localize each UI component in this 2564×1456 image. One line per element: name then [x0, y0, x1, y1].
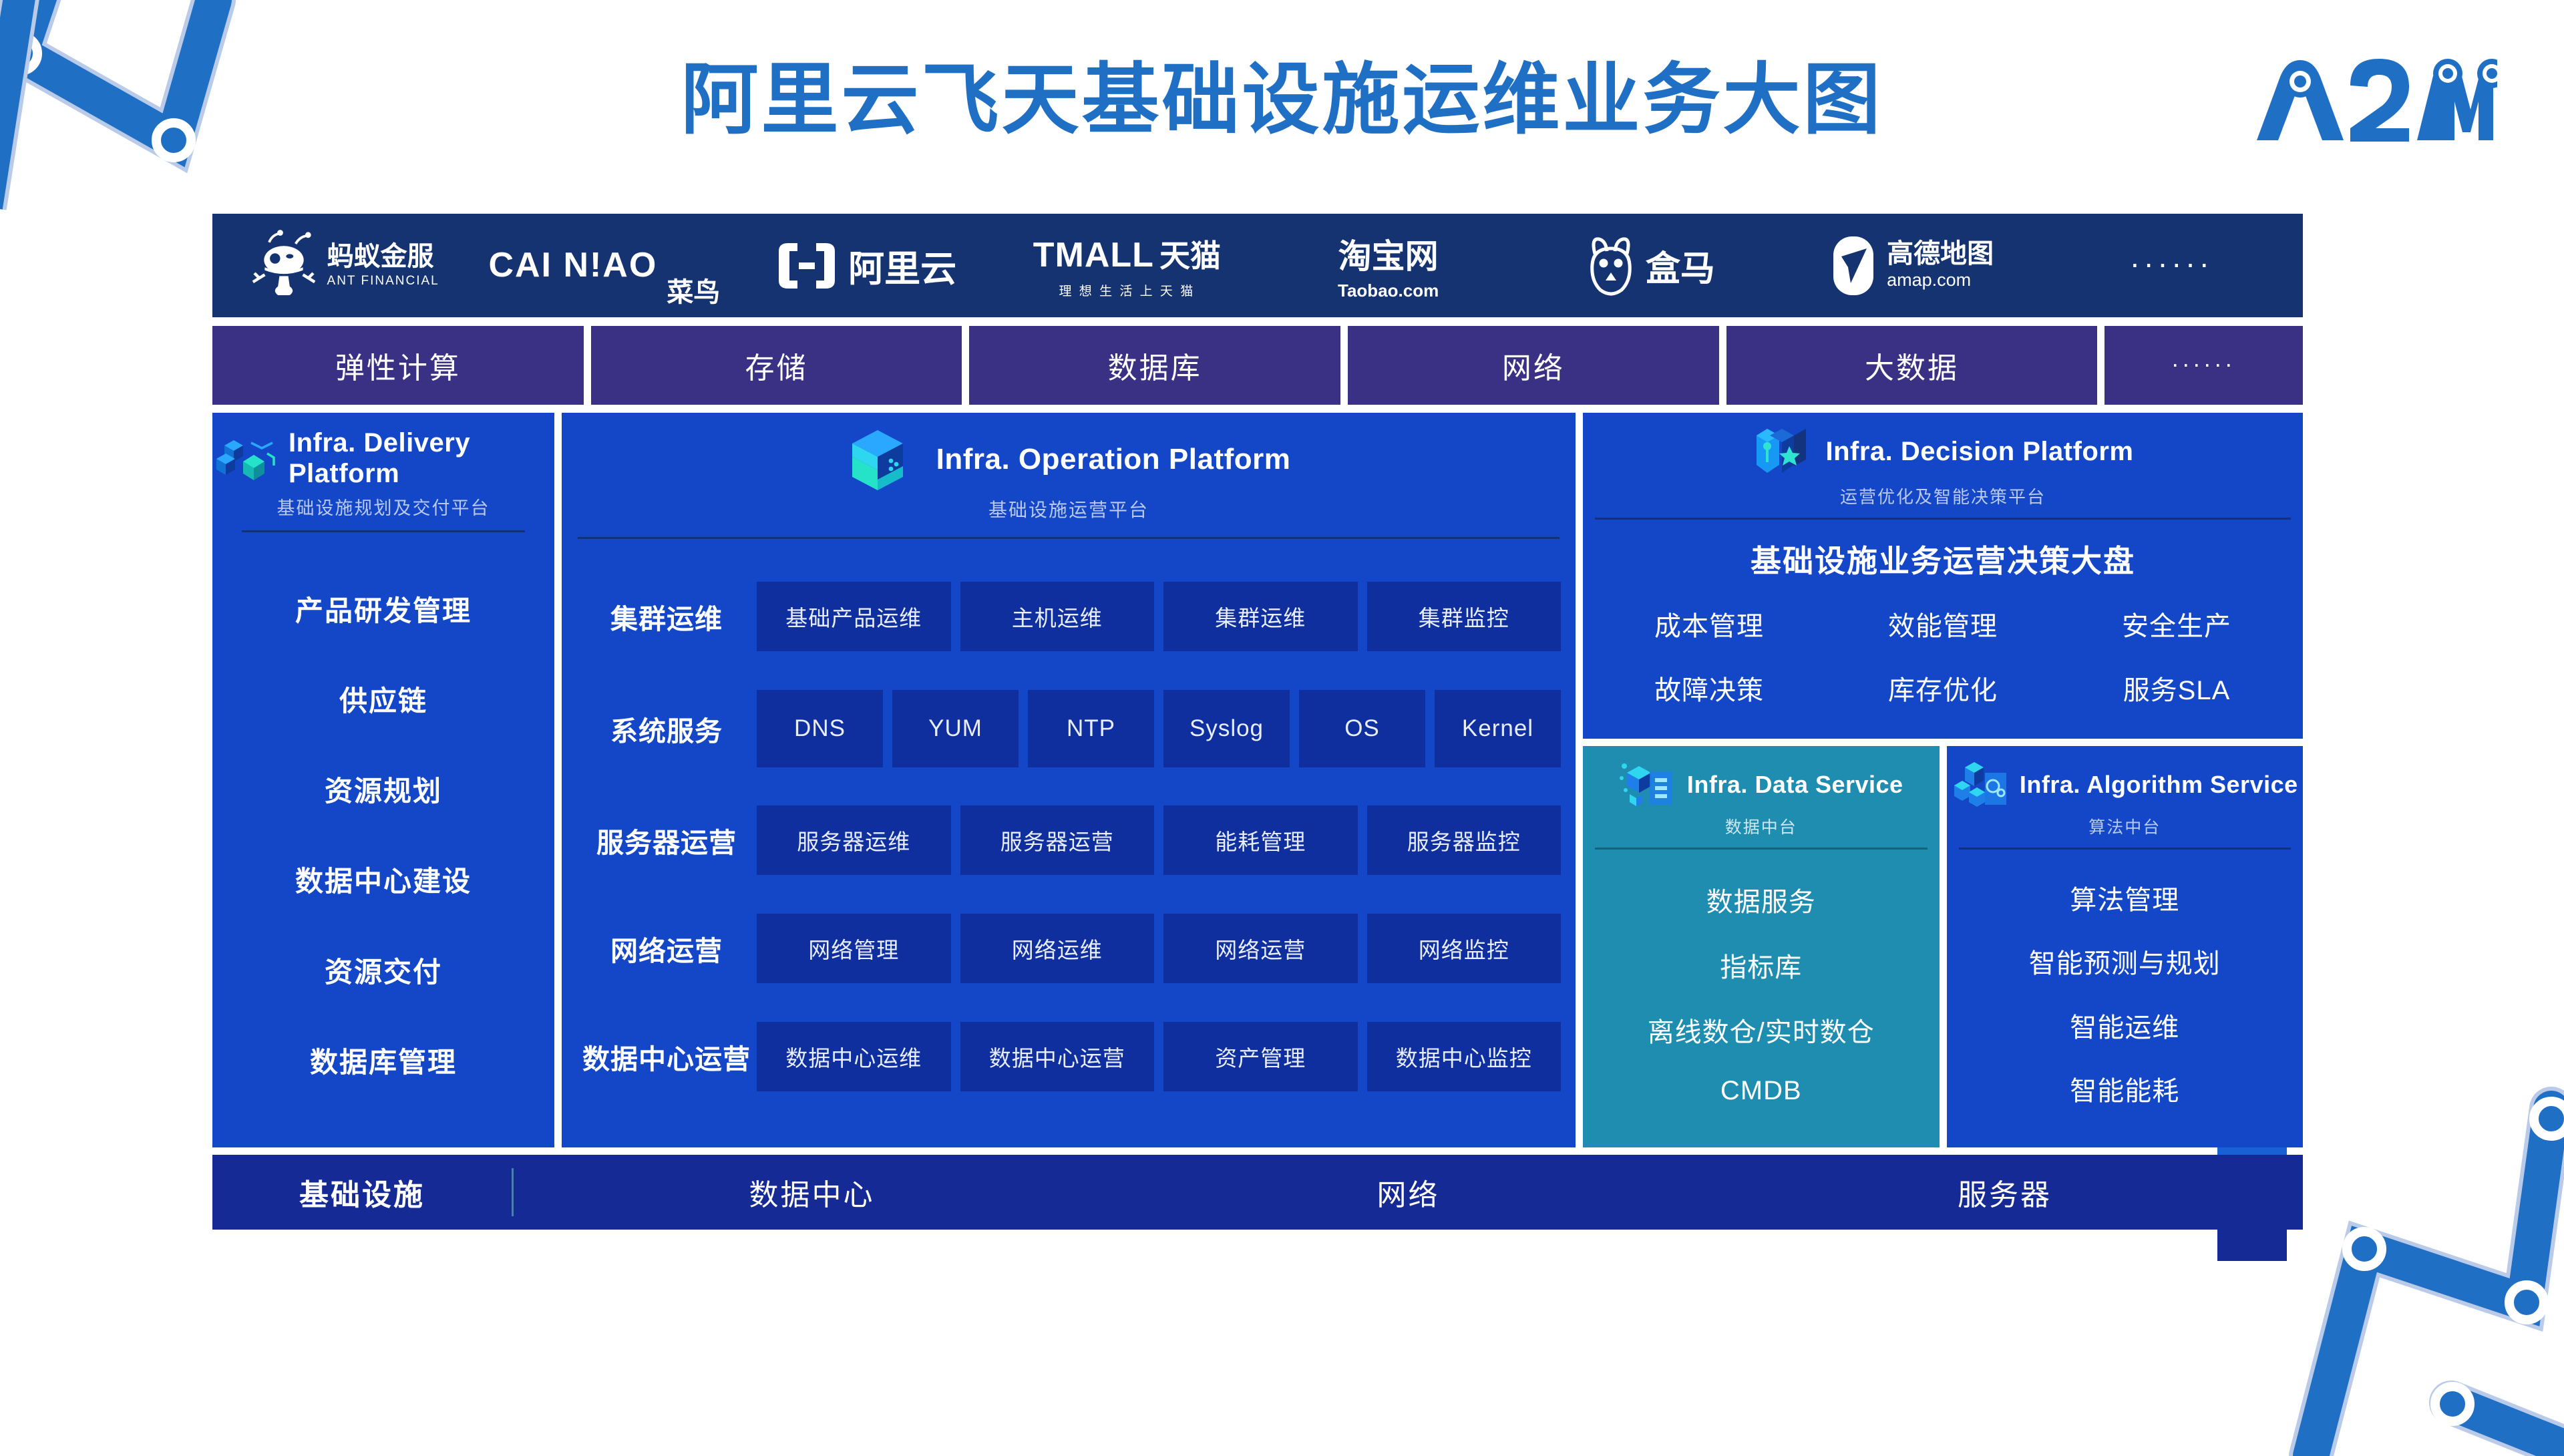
operation-platform-header: Infra. Operation Platform 基础设施运营平台 — [562, 413, 1576, 539]
a2m-logo — [2217, 40, 2497, 147]
algorithm-service-header: Infra. Algorithm Service 算法中台 — [1947, 746, 2304, 850]
delivery-platform-header: Infra. Delivery Platform 基础设施规划及交付平台 — [212, 413, 554, 532]
tmall-tagline: 理 想 生 活 上 天 猫 — [1059, 281, 1196, 299]
infrastructure-bar: 基础设施 数据中心 网络 服务器 — [212, 1155, 2303, 1230]
list-item[interactable]: CMDB — [1590, 1076, 1933, 1106]
algorithm-service-panel: Infra. Algorithm Service 算法中台 算法管理 智能预测与… — [1947, 746, 2304, 1147]
delivery-platform-title: Infra. Delivery Platform — [289, 427, 554, 490]
grid-item[interactable]: 服务SLA — [2060, 669, 2294, 707]
list-item[interactable]: 数据库管理 — [212, 1040, 554, 1081]
chip[interactable]: 数据中心运营 — [960, 1022, 1155, 1091]
service-row: Infra. Data Service 数据中台 数据服务 指标库 离线数仓/实… — [1583, 746, 2303, 1147]
chip[interactable]: 服务器运营 — [960, 805, 1155, 875]
amap-en: amap.com — [1887, 270, 1994, 291]
chip[interactable]: 资产管理 — [1163, 1022, 1358, 1091]
decision-headline: 基础设施业务运营决策大盘 — [1583, 537, 2303, 581]
table-row: 集群运维 基础产品运维 主机运维 集群运维 集群监控 — [576, 582, 1561, 651]
chip[interactable]: 服务器运维 — [757, 805, 951, 875]
list-item[interactable]: 资源规划 — [212, 769, 554, 809]
chip[interactable]: NTP — [1028, 690, 1154, 767]
list-item[interactable]: 智能能耗 — [1954, 1069, 2297, 1108]
ant-financial-cn: 蚂蚁金服 — [327, 243, 439, 270]
ant-financial-logo: 蚂蚁金服 ANT FINANCIAL — [212, 214, 474, 317]
brand-more: ...... — [2042, 214, 2303, 317]
grid-item[interactable]: 成本管理 — [1592, 604, 1826, 643]
chip[interactable]: 网络运营 — [1163, 914, 1358, 983]
algorithm-cube-icon — [1952, 758, 2009, 811]
divider — [1595, 518, 2291, 520]
aliyun-cn: 阿里云 — [848, 239, 956, 292]
layered-cube-icon — [847, 427, 919, 492]
infra-item-network[interactable]: 网络 — [1110, 1171, 1706, 1214]
cainiao-logo: CAI N!AO 菜鸟 — [474, 214, 735, 317]
delivery-platform-subtitle: 基础设施规划及交付平台 — [212, 494, 554, 520]
infra-item-datacenter[interactable]: 数据中心 — [514, 1171, 1110, 1214]
chip[interactable]: 集群运维 — [1163, 582, 1358, 651]
list-item[interactable]: 数据服务 — [1590, 880, 1933, 919]
decision-platform-panel: Infra. Decision Platform 运营优化及智能决策平台 基础设… — [1583, 413, 2303, 739]
right-column: Infra. Decision Platform 运营优化及智能决策平台 基础设… — [1583, 413, 2303, 1147]
chip[interactable]: OS — [1299, 690, 1425, 767]
row-label: 服务器运营 — [576, 820, 757, 860]
operation-platform-rows: 集群运维 基础产品运维 主机运维 集群运维 集群监控 系统服务 DNS YUM … — [562, 539, 1576, 1147]
brand-logo-bar: 蚂蚁金服 ANT FINANCIAL CAI N!AO 菜鸟 阿里云 TMALL… — [212, 214, 2303, 317]
infra-item-server[interactable]: 服务器 — [1706, 1171, 2303, 1214]
grid-item[interactable]: 库存优化 — [1826, 669, 2060, 707]
category-item-database[interactable]: 数据库 — [969, 326, 1340, 405]
category-item-storage[interactable]: 存储 — [591, 326, 962, 405]
data-service-subtitle: 数据中台 — [1583, 814, 1940, 838]
chip[interactable]: 数据中心监控 — [1367, 1022, 1562, 1091]
diagram-board: 蚂蚁金服 ANT FINANCIAL CAI N!AO 菜鸟 阿里云 TMALL… — [212, 214, 2303, 1256]
chip[interactable]: DNS — [757, 690, 883, 767]
operation-platform-subtitle: 基础设施运营平台 — [562, 496, 1576, 522]
data-service-header: Infra. Data Service 数据中台 — [1583, 746, 1940, 850]
chip[interactable]: Syslog — [1163, 690, 1290, 767]
category-item-bigdata[interactable]: 大数据 — [1726, 326, 2098, 405]
row-label: 数据中心运营 — [576, 1037, 757, 1077]
amap-logo: 高德地图 amap.com — [1781, 214, 2042, 317]
platform-row: Infra. Delivery Platform 基础设施规划及交付平台 产品研… — [212, 413, 2303, 1147]
category-label: 网络 — [1502, 344, 1565, 387]
chip[interactable]: 网络运维 — [960, 914, 1155, 983]
data-service-title: Infra. Data Service — [1687, 771, 1903, 798]
category-item-more[interactable]: ...... — [2104, 326, 2303, 405]
tmall-logo: TMALL 天猫 理 想 生 活 上 天 猫 — [996, 214, 1258, 317]
category-label: 存储 — [745, 344, 808, 387]
category-label: 大数据 — [1865, 344, 1959, 387]
data-cube-icon — [1619, 758, 1676, 811]
category-item-network[interactable]: 网络 — [1348, 326, 1719, 405]
row-label: 网络运营 — [576, 928, 757, 968]
taobao-logo: 淘宝网 Taobao.com — [1258, 214, 1519, 317]
aliyun-logo: 阿里云 — [735, 214, 996, 317]
list-item[interactable]: 产品研发管理 — [212, 588, 554, 629]
row-label: 集群运维 — [576, 596, 757, 636]
category-strip: 弹性计算 存储 数据库 网络 大数据 ...... — [212, 326, 2303, 405]
operation-platform-panel: Infra. Operation Platform 基础设施运营平台 集群运维 … — [562, 413, 1576, 1147]
data-service-panel: Infra. Data Service 数据中台 数据服务 指标库 离线数仓/实… — [1583, 746, 1940, 1147]
decision-platform-title: Infra. Decision Platform — [1826, 436, 2134, 467]
table-row: 网络运营 网络管理 网络运维 网络运营 网络监控 — [576, 914, 1561, 983]
chip[interactable]: 基础产品运维 — [757, 582, 951, 651]
list-item[interactable]: 供应链 — [212, 679, 554, 719]
list-item[interactable]: 算法管理 — [1954, 878, 2297, 917]
taobao-cn: 淘宝网 — [1338, 230, 1439, 278]
cainiao-en: CAI N!AO — [488, 250, 657, 282]
delivery-platform-panel: Infra. Delivery Platform 基础设施规划及交付平台 产品研… — [212, 413, 554, 1147]
table-row: 服务器运营 服务器运维 服务器运营 能耗管理 服务器监控 — [576, 805, 1561, 875]
chip[interactable]: 主机运维 — [960, 582, 1155, 651]
chip[interactable]: Kernel — [1435, 690, 1561, 767]
category-label: ...... — [2172, 345, 2236, 373]
cube-stack-icon — [212, 432, 277, 484]
list-item[interactable]: 数据中心建设 — [212, 859, 554, 900]
chip[interactable]: 数据中心运维 — [757, 1022, 951, 1091]
decision-items-grid: 成本管理 效能管理 安全生产 故障决策 库存优化 服务SLA — [1583, 581, 2303, 739]
infrastructure-items: 数据中心 网络 服务器 — [514, 1171, 2303, 1214]
chip[interactable]: 能耗管理 — [1163, 805, 1358, 875]
delivery-platform-list: 产品研发管理 供应链 资源规划 数据中心建设 资源交付 数据库管理 — [212, 532, 554, 1147]
grid-item[interactable]: 安全生产 — [2060, 604, 2294, 643]
chip[interactable]: 集群监控 — [1367, 582, 1562, 651]
page-title: 阿里云飞天基础设施运维业务大图 — [0, 37, 2564, 149]
algorithm-service-title: Infra. Algorithm Service — [2020, 771, 2298, 798]
header: 阿里云飞天基础设施运维业务大图 — [0, 0, 2564, 200]
category-item-elastic-compute[interactable]: 弹性计算 — [212, 326, 584, 405]
category-label: 弹性计算 — [335, 344, 461, 387]
list-item[interactable]: 智能预测与规划 — [1954, 942, 2297, 980]
grid-item[interactable]: 故障决策 — [1592, 669, 1826, 707]
amap-cn: 高德地图 — [1887, 240, 1994, 267]
decision-cube-icon — [1753, 423, 1814, 480]
brand-more-label: ...... — [2131, 241, 2214, 272]
decision-platform-subtitle: 运营优化及智能决策平台 — [1583, 484, 2303, 508]
list-item[interactable]: 离线数仓/实时数仓 — [1590, 1011, 1933, 1049]
cainiao-cn: 菜鸟 — [667, 270, 720, 309]
chip[interactable]: 服务器监控 — [1367, 805, 1562, 875]
decoration-bottom-right — [2271, 1082, 2564, 1456]
operation-platform-title: Infra. Operation Platform — [936, 442, 1291, 476]
row-label: 系统服务 — [576, 709, 757, 749]
tmall-en: TMALL — [1033, 235, 1154, 275]
tmall-cn: 天猫 — [1159, 232, 1221, 276]
chip[interactable]: 网络监控 — [1367, 914, 1562, 983]
chip[interactable]: YUM — [892, 690, 1019, 767]
algorithm-service-subtitle: 算法中台 — [1947, 814, 2304, 838]
table-row: 系统服务 DNS YUM NTP Syslog OS Kernel — [576, 690, 1561, 767]
list-item[interactable]: 智能运维 — [1954, 1006, 2297, 1045]
grid-item[interactable]: 效能管理 — [1826, 604, 2060, 643]
list-item[interactable]: 指标库 — [1590, 946, 1933, 984]
hema-cn: 盒马 — [1646, 240, 1715, 291]
ant-financial-en: ANT FINANCIAL — [327, 274, 439, 289]
algorithm-service-list: 算法管理 智能预测与规划 智能运维 智能能耗 — [1947, 850, 2304, 1147]
chip[interactable]: 网络管理 — [757, 914, 951, 983]
decision-platform-header: Infra. Decision Platform 运营优化及智能决策平台 — [1583, 413, 2303, 520]
infrastructure-label: 基础设施 — [212, 1171, 512, 1214]
category-label: 数据库 — [1108, 344, 1202, 387]
taobao-en: Taobao.com — [1338, 281, 1439, 301]
hema-logo: 盒马 — [1519, 214, 1780, 317]
list-item[interactable]: 资源交付 — [212, 950, 554, 990]
data-service-list: 数据服务 指标库 离线数仓/实时数仓 CMDB — [1583, 850, 1940, 1147]
table-row: 数据中心运营 数据中心运维 数据中心运营 资产管理 数据中心监控 — [576, 1022, 1561, 1091]
